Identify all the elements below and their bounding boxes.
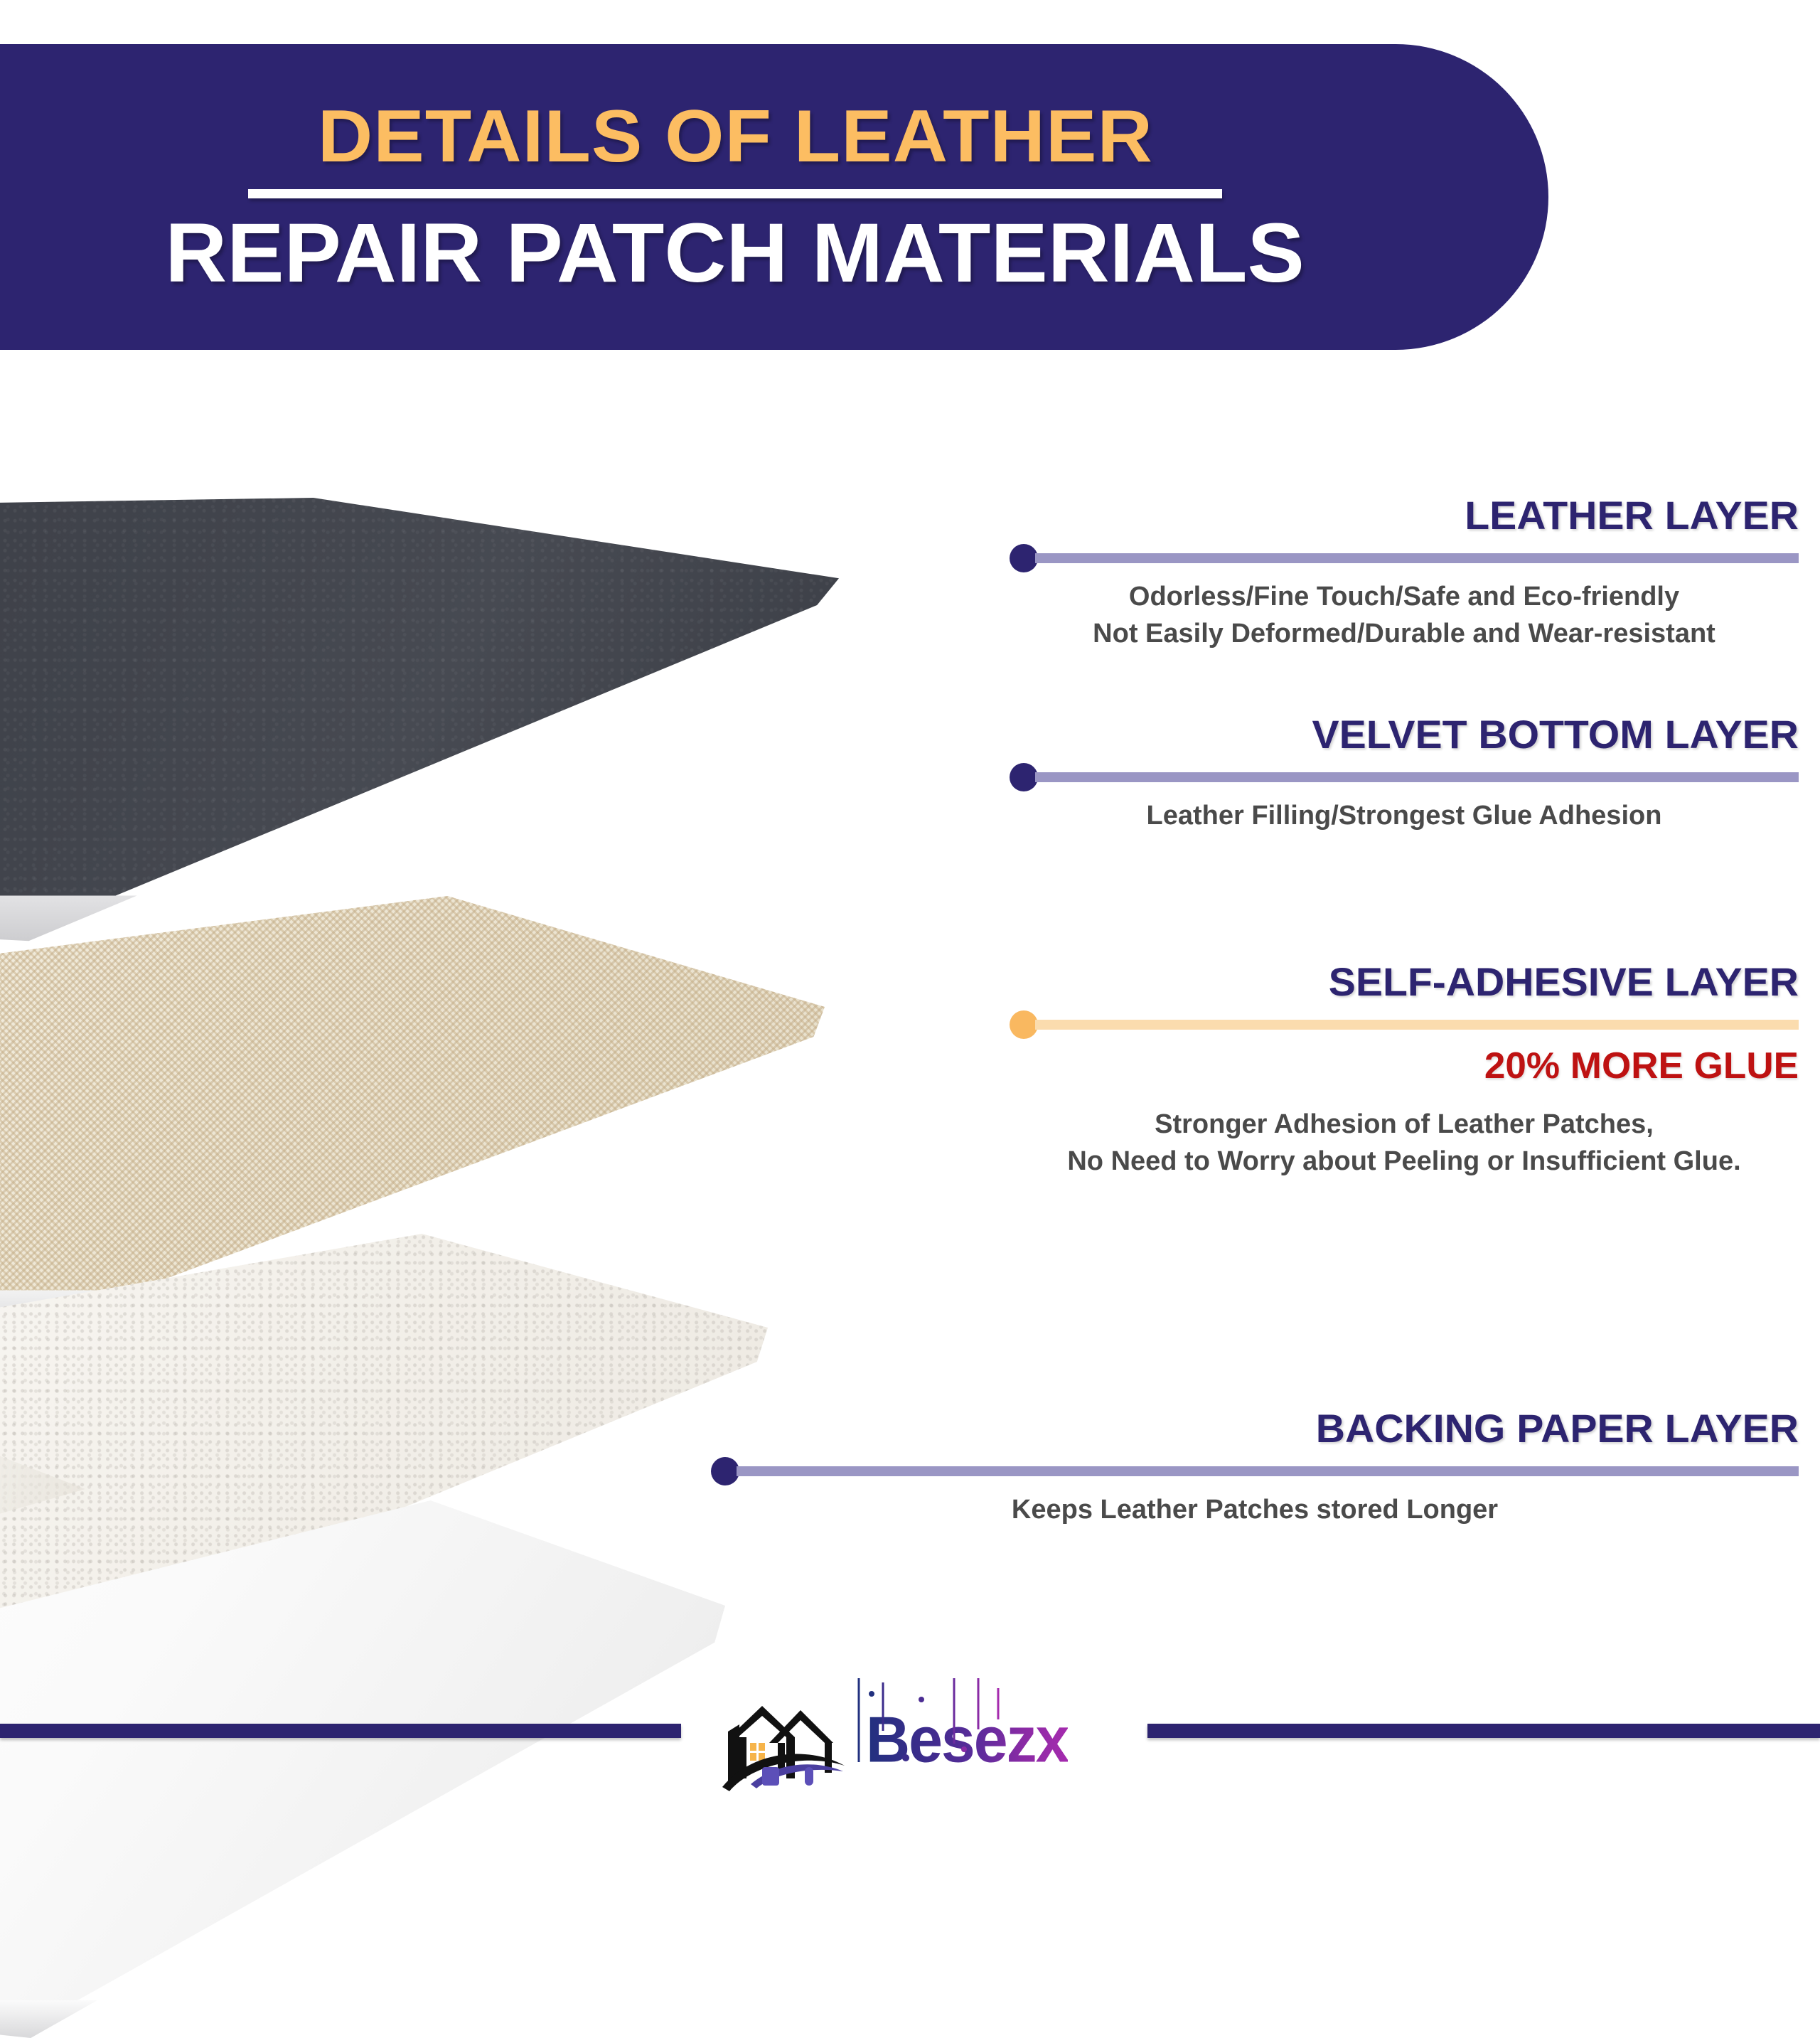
- house-window-pane: [750, 1743, 756, 1751]
- callout-title-leather: LEATHER LAYER: [994, 492, 1799, 538]
- footer-rule-left: [0, 1724, 681, 1738]
- footer-rule-right: [1147, 1724, 1820, 1738]
- callout-body-line: Leather Filling/Strongest Glue Adhesion: [1010, 797, 1799, 834]
- house-logo-icon: [718, 1687, 853, 1794]
- brand-wordmark: Besezx: [866, 1703, 1068, 1778]
- connector-dot-icon: [1010, 544, 1038, 572]
- connector-line: [1035, 553, 1799, 563]
- callout-body-leather: Odorless/Fine Touch/Safe and Eco-friendl…: [1010, 578, 1799, 653]
- callout-backing-paper-layer: BACKING PAPER LAYER Keeps Leather Patche…: [711, 1405, 1799, 1528]
- connector-dot-icon: [1010, 1010, 1038, 1039]
- callout-body-velvet: Leather Filling/Strongest Glue Adhesion: [1010, 797, 1799, 834]
- callout-leather-layer: LEATHER LAYER Odorless/Fine Touch/Safe a…: [1010, 492, 1799, 653]
- callout-connector-backing-paper: [711, 1456, 1799, 1487]
- callout-connector-self-adhesive: [1010, 1009, 1799, 1040]
- callout-title-self-adhesive: SELF-ADHESIVE LAYER: [994, 959, 1799, 1005]
- callout-body-backing-paper: Keeps Leather Patches stored Longer: [711, 1491, 1799, 1528]
- callout-body-line: Not Easily Deformed/Durable and Wear-res…: [1010, 615, 1799, 652]
- callout-body-line: No Need to Worry about Peeling or Insuff…: [1010, 1143, 1799, 1180]
- connector-dot-icon: [1010, 763, 1038, 791]
- house-window-pane: [759, 1743, 765, 1751]
- connector-dot-icon: [711, 1457, 739, 1485]
- header-banner: DETAILS OF LEATHER REPAIR PATCH MATERIAL…: [0, 44, 1548, 350]
- page-title-line-1: DETAILS OF LEATHER: [317, 100, 1152, 174]
- callout-velvet-bottom-layer: VELVET BOTTOM LAYER Leather Filling/Stro…: [1010, 711, 1799, 834]
- callout-body-line: Odorless/Fine Touch/Safe and Eco-friendl…: [1010, 578, 1799, 615]
- callout-self-adhesive-layer: SELF-ADHESIVE LAYER 20% MORE GLUE Strong…: [1010, 959, 1799, 1180]
- header-title-group: DETAILS OF LEATHER REPAIR PATCH MATERIAL…: [0, 44, 1548, 350]
- connector-line: [737, 1466, 1799, 1476]
- leather-layer-sheet: [0, 498, 839, 945]
- callout-body-line: Stronger Adhesion of Leather Patches,: [1010, 1106, 1799, 1143]
- callout-title-velvet: VELVET BOTTOM LAYER: [994, 711, 1799, 757]
- callout-highlight-badge: 20% MORE GLUE: [994, 1045, 1799, 1087]
- brand-logo: Besezx: [718, 1678, 1145, 1803]
- page-title-line-2: REPAIR PATCH MATERIALS: [166, 211, 1305, 295]
- callout-connector-velvet: [1010, 762, 1799, 793]
- callout-connector-leather: [1010, 543, 1799, 574]
- connector-line: [1035, 1020, 1799, 1030]
- callout-body-self-adhesive: Stronger Adhesion of Leather Patches, No…: [1010, 1106, 1799, 1180]
- title-divider-rule: [248, 189, 1222, 198]
- connector-line: [1035, 772, 1799, 782]
- callout-title-backing-paper: BACKING PAPER LAYER: [689, 1405, 1799, 1451]
- house-window-pane: [750, 1753, 756, 1761]
- callout-body-line: Keeps Leather Patches stored Longer: [711, 1491, 1799, 1528]
